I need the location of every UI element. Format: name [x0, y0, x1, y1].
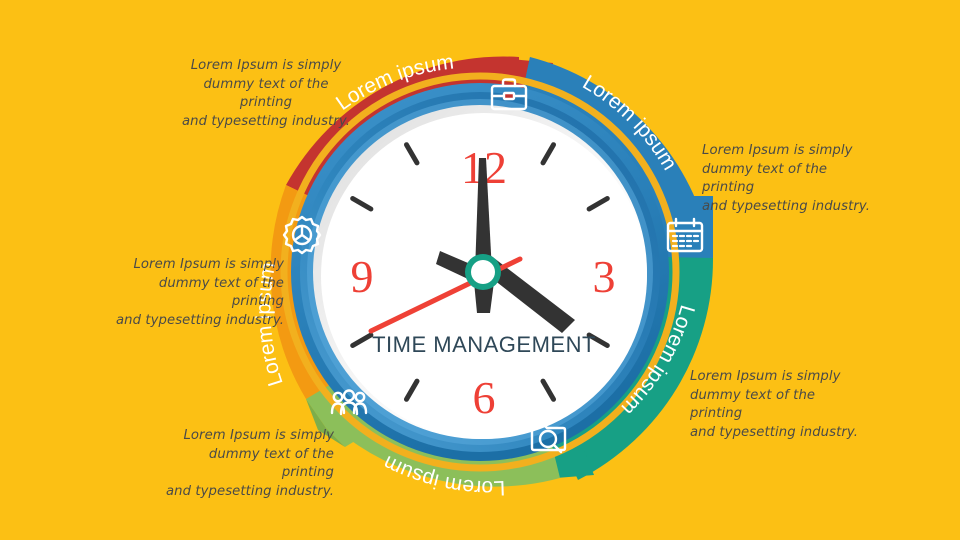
- description-top-left: Lorem Ipsum is simply dummy text of the …: [178, 57, 354, 132]
- description-bottom-right: Lorem Ipsum is simply dummy text of the …: [690, 368, 870, 443]
- clock-hub-center: [471, 260, 495, 284]
- description-left: Lorem Ipsum is simply dummy text of the …: [108, 256, 284, 331]
- clock-title: TIME MANAGEMENT: [372, 332, 596, 357]
- clock: 12 3 6 9 TIME MANAGEMENT: [291, 83, 669, 461]
- clock-numeral-3: 3: [593, 251, 616, 302]
- description-bottom-left: Lorem Ipsum is simply dummy text of the …: [158, 427, 334, 502]
- clock-numeral-9: 9: [351, 251, 374, 302]
- clock-numeral-6: 6: [473, 372, 496, 423]
- infographic-canvas: 12 3 6 9 TIME MANAGEMENT: [0, 0, 960, 540]
- description-top-right: Lorem Ipsum is simply dummy text of the …: [702, 142, 882, 217]
